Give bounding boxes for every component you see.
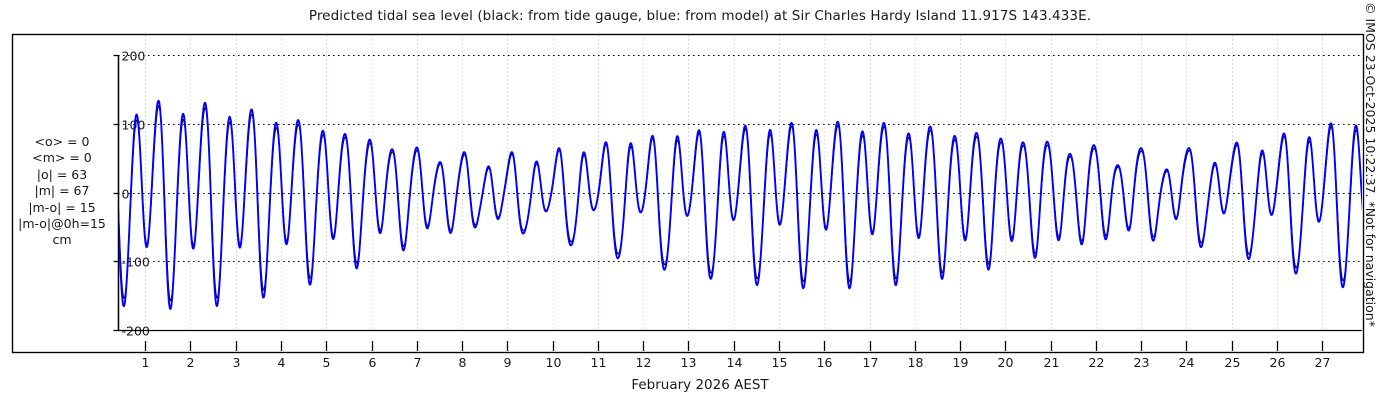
y-tick-label: 0 (122, 187, 130, 202)
x-tick-label: 1 (142, 355, 150, 370)
stat-units: cm (8, 232, 116, 248)
x-tick-label: 22 (1089, 355, 1105, 370)
y-tick-label: -100 (122, 255, 150, 270)
x-tick-label: 27 (1315, 355, 1331, 370)
x-axis-label: February 2026 AEST (0, 377, 1400, 393)
x-tick-label: 19 (953, 355, 969, 370)
x-tick-label: 24 (1179, 355, 1195, 370)
x-tick-label: 17 (863, 355, 879, 370)
x-tick-label: 20 (998, 355, 1014, 370)
x-tick-label: 26 (1270, 355, 1286, 370)
x-tick-label: 7 (414, 355, 422, 370)
x-tick-label: 2 (187, 355, 195, 370)
x-tick-label: 18 (908, 355, 924, 370)
x-tick-label: 3 (233, 355, 241, 370)
x-tick-label: 25 (1225, 355, 1241, 370)
x-tick-label: 11 (591, 355, 607, 370)
stat-mean-model: <m> = 0 (8, 150, 116, 166)
x-tick-label: 10 (546, 355, 562, 370)
series-line-model (118, 101, 1363, 309)
stat-mean-obs: <o> = 0 (8, 134, 116, 150)
x-tick-label: 23 (1134, 355, 1150, 370)
x-tick-label: 16 (817, 355, 833, 370)
copyright-notice: © IMOS 23-Oct-2025 10:22:37. *Not for na… (1360, 2, 1380, 402)
x-tick-label: 21 (1044, 355, 1060, 370)
x-tick-label: 5 (323, 355, 331, 370)
y-tick-label: 200 (122, 49, 146, 64)
x-tick-label: 6 (369, 355, 377, 370)
x-tick-label: 15 (772, 355, 788, 370)
statistics-block: <o> = 0 <m> = 0 |o| = 63 |m| = 67 |m-o| … (8, 134, 116, 249)
stat-abs-diff: |m-o| = 15 (8, 200, 116, 216)
stat-abs-obs: |o| = 63 (8, 167, 116, 183)
x-tick-label: 12 (636, 355, 652, 370)
x-tick-label: 9 (504, 355, 512, 370)
x-tick-label: 14 (727, 355, 743, 370)
stat-abs-diff-0h: |m-o|@0h=15 (8, 216, 116, 232)
x-tick-label: 13 (681, 355, 697, 370)
x-tick-label: 4 (278, 355, 286, 370)
x-tick-label: 8 (459, 355, 467, 370)
stat-abs-model: |m| = 67 (8, 183, 116, 199)
tide-chart-figure: Predicted tidal sea level (black: from t… (0, 0, 1400, 400)
plot-area: 2001000-100-2001234567891011121314151617… (0, 0, 1400, 400)
